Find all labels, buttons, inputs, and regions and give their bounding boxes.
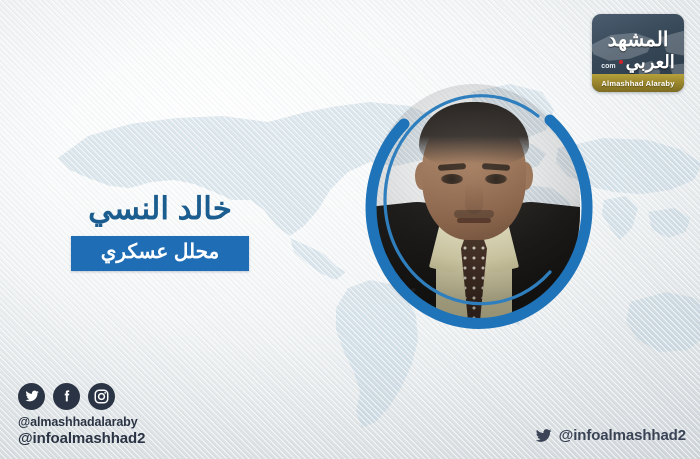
- instagram-icon[interactable]: [88, 383, 115, 410]
- broadcast-guest-card: المشهد com العربي Almashhad Alaraby: [0, 0, 700, 459]
- twitter-icon[interactable]: [18, 383, 45, 410]
- guest-name: خالد النسي: [0, 192, 320, 226]
- portrait-shading: [368, 84, 580, 324]
- logo-arabic-line1: المشهد: [592, 30, 684, 50]
- twitter-bird-icon: [534, 426, 553, 445]
- guest-portrait: [358, 84, 588, 332]
- channel-logo[interactable]: المشهد com العربي Almashhad Alaraby: [592, 14, 684, 92]
- portrait-photo: [368, 84, 580, 324]
- footer-twitter-handle: @infoalmashhad2: [559, 427, 686, 444]
- facebook-icon[interactable]: [53, 383, 80, 410]
- name-block: خالد النسي محلل عسكري: [0, 192, 320, 271]
- social-block: @almashhadalaraby @infoalmashhad2: [18, 383, 145, 449]
- logo-latin-name: Almashhad Alaraby: [592, 74, 684, 92]
- social-icons-row: [18, 383, 145, 410]
- logo-com-label: com: [601, 63, 615, 70]
- footer-twitter-block[interactable]: @infoalmashhad2: [534, 426, 686, 445]
- logo-second-row: com العربي: [592, 53, 684, 71]
- social-handle-1[interactable]: @almashhadalaraby: [18, 415, 145, 431]
- social-handle-2[interactable]: @infoalmashhad2: [18, 430, 145, 449]
- guest-role-badge: محلل عسكري: [71, 236, 249, 271]
- logo-red-dot-icon: [619, 60, 623, 64]
- logo-arabic-line2: العربي: [626, 53, 675, 71]
